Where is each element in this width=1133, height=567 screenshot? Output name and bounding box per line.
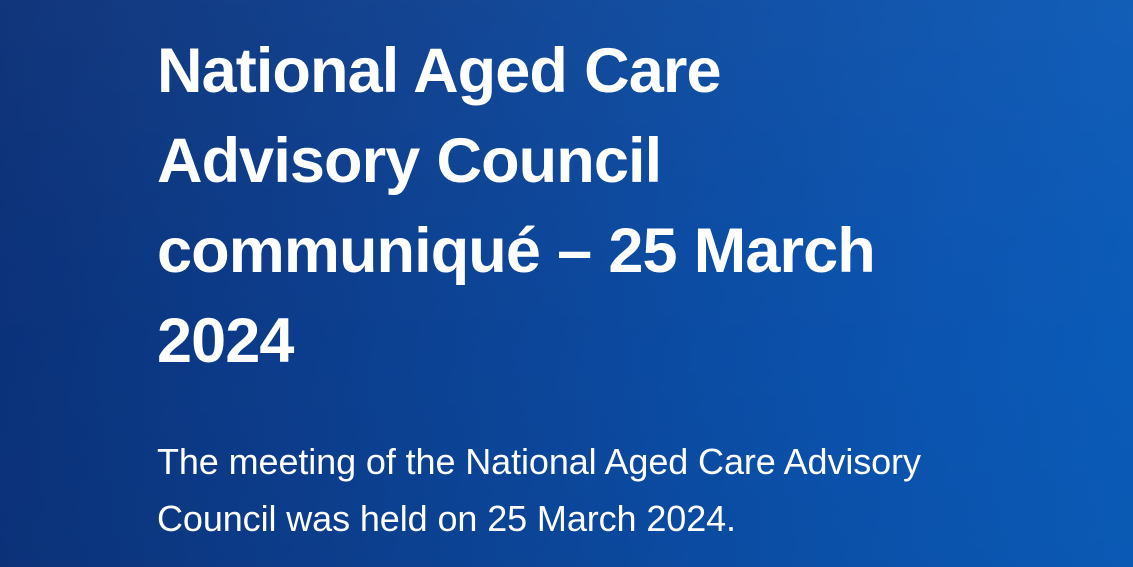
page-title: National Aged Care Advisory Council comm…: [157, 26, 877, 386]
hero-subtitle-wrap: The meeting of the National Aged Care Ad…: [157, 433, 1017, 547]
hero-banner: National Aged Care Advisory Council comm…: [0, 0, 1133, 567]
hero-content: National Aged Care Advisory Council comm…: [157, 26, 1017, 547]
page-subtitle: The meeting of the National Aged Care Ad…: [157, 433, 967, 547]
